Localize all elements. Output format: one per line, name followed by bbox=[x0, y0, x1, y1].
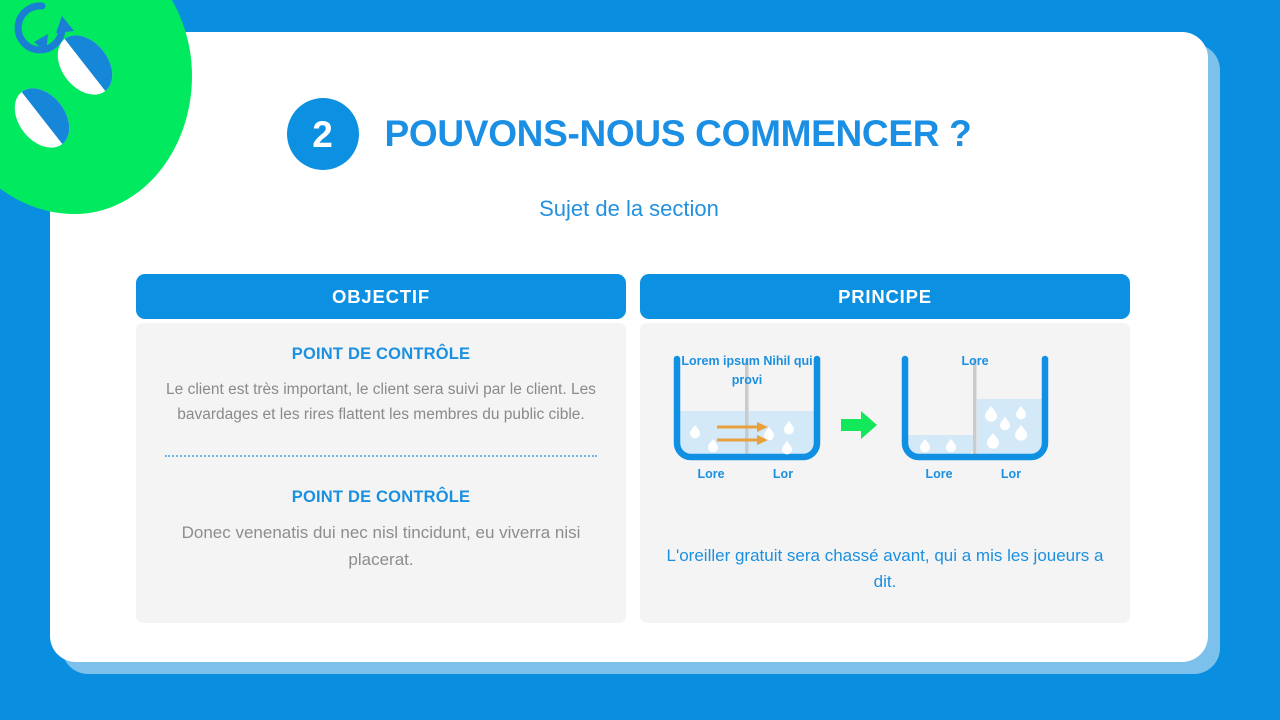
checkpoint-block-1: POINT DE CONTRÔLE Le client est très imp… bbox=[154, 345, 608, 427]
beaker-right-bottom-label-right: Lor bbox=[1001, 467, 1021, 481]
columns-container: OBJECTIF POINT DE CONTRÔLE Le client est… bbox=[136, 274, 1130, 623]
page-subtitle: Sujet de la section bbox=[50, 196, 1208, 222]
column-principe: PRINCIPE bbox=[640, 274, 1130, 623]
column-header-objectif: OBJECTIF bbox=[136, 274, 626, 319]
transition-arrow-icon bbox=[841, 411, 877, 439]
beaker-right: Lore Lore Lor bbox=[905, 354, 1045, 481]
diagram-caption: L'oreiller gratuit sera chassé avant, qu… bbox=[658, 543, 1112, 596]
column-header-principe: PRINCIPE bbox=[640, 274, 1130, 319]
column-body-objectif: POINT DE CONTRÔLE Le client est très imp… bbox=[136, 323, 626, 623]
beaker-left: Lorem ipsum Nihil qui provi Lore Lor bbox=[677, 354, 817, 481]
column-body-principe: Lorem ipsum Nihil qui provi Lore Lor bbox=[640, 323, 1130, 623]
slide-number-badge: 2 bbox=[287, 98, 359, 170]
beaker-right-bottom-label-left: Lore bbox=[925, 467, 952, 481]
slide-header: 2 POUVONS-NOUS COMMENCER ? Sujet de la s… bbox=[50, 32, 1208, 222]
beaker-left-bottom-label-left: Lore bbox=[697, 467, 724, 481]
checkpoint-title-1: POINT DE CONTRÔLE bbox=[154, 345, 608, 364]
section-divider bbox=[165, 455, 597, 458]
beaker-left-top-label-line1: Lorem ipsum Nihil qui bbox=[681, 354, 812, 368]
beaker-right-top-label: Lore bbox=[961, 354, 988, 368]
page-title: POUVONS-NOUS COMMENCER ? bbox=[385, 113, 972, 155]
checkpoint-block-2: POINT DE CONTRÔLE Donec venenatis dui ne… bbox=[154, 488, 608, 574]
checkpoint-text-1: Le client est très important, le client … bbox=[154, 377, 608, 427]
beaker-left-bottom-label-right: Lor bbox=[773, 467, 793, 481]
title-row: 2 POUVONS-NOUS COMMENCER ? bbox=[50, 32, 1208, 170]
column-objectif: OBJECTIF POINT DE CONTRÔLE Le client est… bbox=[136, 274, 626, 623]
beaker-left-top-label-line2: provi bbox=[732, 373, 763, 387]
checkpoint-title-2: POINT DE CONTRÔLE bbox=[154, 488, 608, 507]
checkpoint-text-2: Donec venenatis dui nec nisl tincidunt, … bbox=[154, 520, 608, 574]
osmosis-diagram-svg: Lorem ipsum Nihil qui provi Lore Lor bbox=[665, 351, 1105, 521]
osmosis-diagram: Lorem ipsum Nihil qui provi Lore Lor bbox=[658, 345, 1112, 521]
